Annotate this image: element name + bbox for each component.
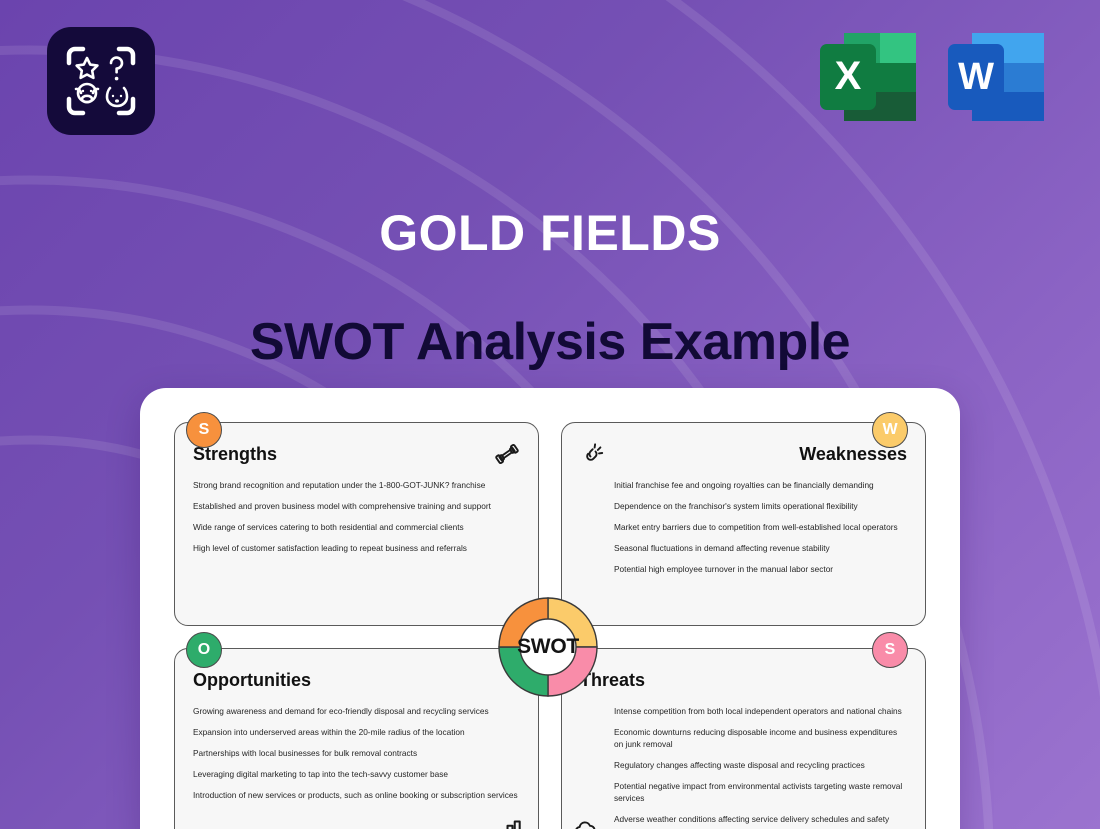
excel-letter: X [835, 54, 862, 98]
threats-list: Intense competition from both local inde… [580, 705, 907, 825]
weaknesses-header: Weaknesses [580, 439, 907, 469]
quadrant-strengths[interactable]: Strengths Strong brand recognition and r… [174, 422, 539, 626]
list-item: Growing awareness and demand for eco-fri… [193, 705, 520, 717]
office-app-icons: X W [818, 29, 1046, 125]
page-title: SWOT Analysis Example [0, 312, 1100, 372]
list-item: Wide range of services catering to both … [193, 521, 520, 533]
badge-threats: S [872, 632, 908, 668]
quadrant-weaknesses[interactable]: Weaknesses Initial franchise fee and ong… [561, 422, 926, 626]
badge-opportunities: O [186, 632, 222, 668]
list-item: Seasonal fluctuations in demand affectin… [580, 542, 907, 554]
swot-donut-label: SWOT [493, 592, 603, 702]
opportunities-title: Opportunities [193, 670, 311, 691]
list-item: High level of customer satisfaction lead… [193, 542, 520, 554]
list-item: Established and proven business model wi… [193, 500, 520, 512]
opportunities-list: Growing awareness and demand for eco-fri… [193, 705, 520, 801]
microsoft-excel-icon[interactable]: X [818, 29, 918, 125]
weaknesses-list: Initial franchise fee and ongoing royalt… [580, 479, 907, 575]
list-item: Strong brand recognition and reputation … [193, 479, 520, 491]
list-item: Regulatory changes affecting waste dispo… [580, 759, 907, 771]
brand-title: GOLD FIELDS [0, 204, 1100, 262]
broken-link-icon [580, 441, 606, 467]
animal-quiz-scan-logo [47, 27, 155, 135]
badge-weaknesses: W [872, 412, 908, 448]
opportunities-header: Opportunities [193, 665, 520, 695]
storm-cloud-icon [572, 817, 600, 829]
bar-chart-icon [496, 815, 524, 829]
list-item: Economic downturns reducing disposable i… [580, 726, 907, 750]
list-item: Intense competition from both local inde… [580, 705, 907, 717]
microsoft-word-icon[interactable]: W [946, 29, 1046, 125]
list-item: Leveraging digital marketing to tap into… [193, 768, 520, 780]
strengths-list: Strong brand recognition and reputation … [193, 479, 520, 554]
quadrant-threats[interactable]: Threats Intense competition from both lo… [561, 648, 926, 829]
swot-poster-page: X W GOLD FIELDS SWOT Analysis Example St… [0, 0, 1100, 829]
badge-strengths: S [186, 412, 222, 448]
list-item: Market entry barriers due to competition… [580, 521, 907, 533]
list-item: Partnerships with local businesses for b… [193, 747, 520, 759]
list-item: Potential negative impact from environme… [580, 780, 907, 804]
list-item: Adverse weather conditions affecting ser… [580, 813, 907, 825]
strengths-header: Strengths [193, 439, 520, 469]
quadrant-opportunities[interactable]: Opportunities Growing awareness and dema… [174, 648, 539, 829]
list-item: Introduction of new services or products… [193, 789, 520, 801]
word-letter: W [958, 56, 994, 98]
threats-header: Threats [580, 665, 907, 695]
list-item: Initial franchise fee and ongoing royalt… [580, 479, 907, 491]
list-item: Potential high employee turnover in the … [580, 563, 907, 575]
list-item: Expansion into underserved areas within … [193, 726, 520, 738]
list-item: Dependence on the franchisor's system li… [580, 500, 907, 512]
dumbbell-icon [494, 441, 520, 467]
